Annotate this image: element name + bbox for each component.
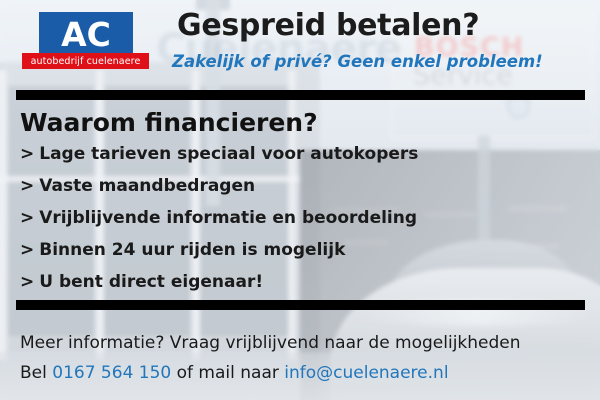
chevron-right-icon: > [20,144,34,164]
list-item-label: U bent direct eigenaar! [39,272,263,292]
divider-bottom [16,300,585,310]
logo-red-bar: autobedrijf cuelenaere [22,53,149,69]
email-address[interactable]: info@cuelenaere.nl [284,363,448,383]
subheadline: Zakelijk of privé? Geen enkel probleem! [172,52,543,71]
list-item: >Binnen 24 uur rijden is mogelijk [20,242,580,259]
chevron-right-icon: > [20,272,34,292]
list-item: >Lage tarieven speciaal voor autokopers [20,146,580,163]
list-item: >Vaste maandbedragen [20,178,580,195]
list-item-label: Vrijblijvende informatie en beoordeling [39,208,417,228]
company-logo[interactable]: AC autobedrijf cuelenaere [22,12,149,69]
chevron-right-icon: > [20,176,34,196]
call-prefix-label: Bel [20,363,47,383]
chevron-right-icon: > [20,208,34,228]
footer-info-text: Meer informatie? Vraag vrijblijvend naar… [20,333,521,353]
list-item: >U bent direct eigenaar! [20,274,580,291]
logo-blue-block: AC [39,12,133,58]
footer-contact-line: Bel 0167 564 150 of mail naar info@cuele… [20,363,449,383]
financing-banner: BOSCH Service Cuelenaere AC autobedrijf … [0,0,600,400]
mail-connector-label: of mail naar [177,363,279,383]
benefits-list: >Lage tarieven speciaal voor autokopers … [20,146,580,306]
list-item: >Vrijblijvende informatie en beoordeling [20,210,580,227]
page-title: Waarom financieren? [20,108,318,137]
logo-initials: AC [39,12,133,58]
logo-tagline: autobedrijf cuelenaere [31,56,141,67]
divider-top [16,90,585,100]
list-item-label: Binnen 24 uur rijden is mogelijk [39,240,345,260]
list-item-label: Lage tarieven speciaal voor autokopers [39,144,418,164]
list-item-label: Vaste maandbedragen [39,176,255,196]
chevron-right-icon: > [20,240,34,260]
phone-number[interactable]: 0167 564 150 [52,363,171,383]
headline: Gespreid betalen? [177,8,479,43]
